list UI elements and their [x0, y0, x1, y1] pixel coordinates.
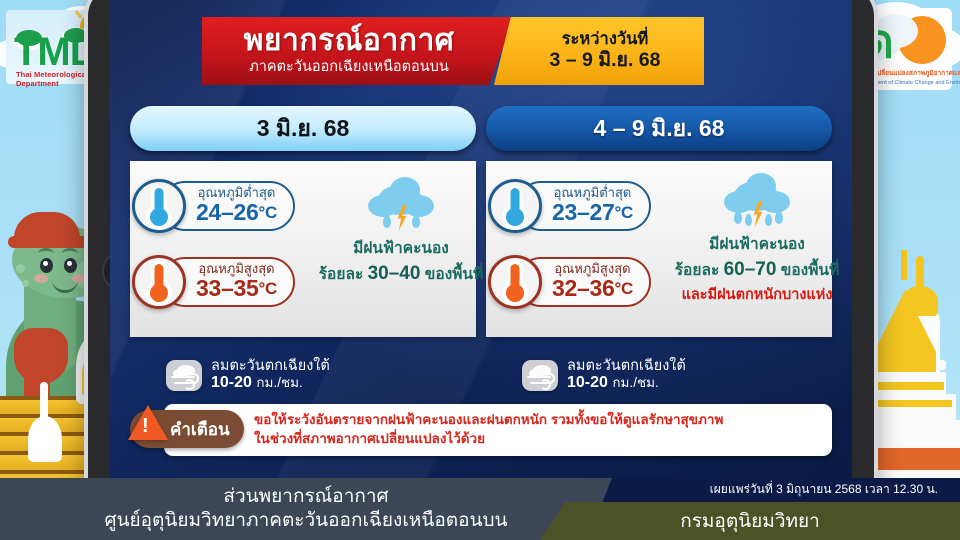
- min-temp-number: 23–27: [552, 199, 614, 225]
- raindrop-icon: [734, 211, 742, 224]
- footer-line-1: ส่วนพยากรณ์อากาศ: [223, 486, 388, 509]
- tablet-screen: พยากรณ์อากาศ ภาคตะวันออกเฉียงเหนือตอนบน …: [110, 0, 852, 508]
- rain-line-1: มีฝนฟ้าคะนอง: [353, 235, 449, 260]
- wind-direction: ลมตะวันตกเฉียงใต้: [567, 358, 686, 374]
- min-temp-unit: °C: [614, 203, 632, 222]
- rain-pct-prefix: ร้อยละ: [319, 266, 368, 283]
- thermometer-min-icon: [132, 179, 186, 233]
- tablet-frame: พยากรณ์อากาศ ภาคตะวันออกเฉียงเหนือตอนบน …: [88, 0, 874, 540]
- raindrop-icon: [745, 214, 752, 226]
- wind-cell-1: ลมตะวันตกเฉียงใต้ 10-20 กม./ชม.: [130, 352, 476, 398]
- forecast-panel-1: อุณหภูมิต่ำสุด 24–26°C: [130, 161, 476, 337]
- warning-label: คำเตือน: [170, 416, 230, 443]
- rain-block-1: มีฝนฟ้าคะนอง ร้อยละ 30–40 ของพื้นที่: [312, 175, 490, 287]
- footer: ส่วนพยากรณ์อากาศ ศูนย์อุตุนิยมวิทยาภาคตะ…: [0, 478, 960, 540]
- wind-text-2: ลมตะวันตกเฉียงใต้ 10-20 กม./ชม.: [567, 358, 686, 392]
- weather-infographic: TMD Thai Meteorological Department ด กรม…: [0, 0, 960, 540]
- max-temp-number: 33–35: [196, 275, 258, 301]
- max-temp-unit: °C: [614, 279, 632, 298]
- min-temp-label: อุณหภูมิต่ำสุด: [198, 186, 276, 200]
- max-temp-label: อุณหภูมิสูงสุด: [554, 262, 630, 276]
- warning-line-2: ในช่วงที่สภาพอากาศเปลี่ยนแปลงไว้ด้วย: [254, 430, 723, 449]
- rain-line-3: และมีฝนตกหนักบางแห่ง: [682, 283, 833, 306]
- rain-block-2: มีฝนฟ้าคะนอง ร้อยละ 60–70 ของพื้นที่ และ…: [664, 171, 850, 306]
- banner-range-value: 3 – 9 มิ.ย. 68: [549, 49, 660, 72]
- thunderstorm-icon: [720, 171, 794, 229]
- raindrop-icon: [412, 215, 420, 228]
- wind-speed: 10-20 กม./ชม.: [211, 374, 330, 392]
- banner-title-block: พยากรณ์อากาศ ภาคตะวันออกเฉียงเหนือตอนบน: [202, 17, 514, 85]
- max-temp-number: 32–36: [552, 275, 614, 301]
- wind-speed-value: 10-20: [211, 374, 252, 391]
- min-temp-label: อุณหภูมิต่ำสุด: [554, 186, 632, 200]
- wind-speed-unit: กม./ชม.: [256, 375, 302, 390]
- day-pill-1: 3 มิ.ย. 68: [130, 106, 476, 151]
- max-temp-value: 32–36°C: [552, 276, 633, 300]
- max-temp-value: 33–35°C: [196, 276, 277, 300]
- wind-text-1: ลมตะวันตกเฉียงใต้ 10-20 กม./ชม.: [211, 358, 330, 392]
- rain-pct-suffix: ของพื้นที่: [420, 266, 483, 283]
- wind-icon: [522, 360, 558, 391]
- min-temp-number: 24–26: [196, 199, 258, 225]
- max-temp-unit: °C: [258, 279, 276, 298]
- footer-line-2: ศูนย์อุตุนิยมวิทยาภาคตะวันออกเฉียงเหนือต…: [104, 509, 507, 533]
- forecast-panel-2: อุณหภูมิต่ำสุด 23–27°C: [486, 161, 832, 337]
- raindrop-icon: [383, 215, 391, 228]
- max-temp-row: อุณหภูมิสูงสุด 32–36°C: [488, 255, 651, 309]
- rain-pct-value: 60–70: [724, 259, 777, 280]
- banner-subtitle: ภาคตะวันออกเฉียงเหนือตอนบน: [249, 59, 449, 76]
- raindrop-icon: [765, 214, 772, 226]
- wind-speed-unit: กม./ชม.: [612, 375, 658, 390]
- wind-strip: ลมตะวันตกเฉียงใต้ 10-20 กม./ชม. ลมตะ: [110, 352, 852, 398]
- wind-speed-value: 10-20: [567, 374, 608, 391]
- rain-line-2: ร้อยละ 30–40 ของพื้นที่: [319, 261, 484, 286]
- thermometer-max-icon: [132, 255, 186, 309]
- min-temp-row: อุณหภูมิต่ำสุด 23–27°C: [488, 179, 651, 233]
- footer-left-block: ส่วนพยากรณ์อากาศ ศูนย์อุตุนิยมวิทยาภาคตะ…: [0, 478, 612, 540]
- forecast-column: 3 มิ.ย. 68 อุณหภูมิต่ำสุด 24: [130, 106, 476, 337]
- raindrop-icon: [775, 211, 783, 224]
- warning-exclamation-icon: !: [142, 416, 149, 436]
- forecast-column: 4 – 9 มิ.ย. 68 อุณหภูมิต่ำสุด: [486, 106, 832, 337]
- min-temp-value: 24–26°C: [196, 200, 277, 224]
- wind-speed: 10-20 กม./ชม.: [567, 374, 686, 392]
- rain-line-1: มีฝนฟ้าคะนอง: [709, 231, 805, 256]
- thermometer-min-icon: [488, 179, 542, 233]
- tmd-letters: TMD: [14, 32, 98, 72]
- rain-pct-value: 30–40: [368, 263, 421, 284]
- min-temp-row: อุณหภูมิต่ำสุด 24–26°C: [132, 179, 295, 233]
- rain-pct-prefix: ร้อยละ: [675, 262, 724, 279]
- banner-date-block: ระหว่างวันที่ 3 – 9 มิ.ย. 68: [494, 17, 704, 85]
- thermometer-max-icon: [488, 255, 542, 309]
- thunderstorm-icon: [364, 175, 438, 233]
- footer-published: เผยแพร่วันที่ 3 มิถุนายน 2568 เวลา 12.30…: [704, 479, 944, 500]
- banner-title: พยากรณ์อากาศ: [244, 26, 455, 57]
- warning-line-1: ขอให้ระวังอันตรายจากฝนฟ้าคะนองและฝนตกหนั…: [254, 411, 723, 430]
- day-pill-2: 4 – 9 มิ.ย. 68: [486, 106, 832, 151]
- max-temp-label: อุณหภูมิสูงสุด: [198, 262, 274, 276]
- warning-text: ขอให้ระวังอันตรายจากฝนฟ้าคะนองและฝนตกหนั…: [254, 411, 723, 448]
- wind-direction: ลมตะวันตกเฉียงใต้: [211, 358, 330, 374]
- min-temp-value: 23–27°C: [552, 200, 633, 224]
- forecast-banner: พยากรณ์อากาศ ภาคตะวันออกเฉียงเหนือตอนบน …: [202, 17, 704, 85]
- wind-cell-2: ลมตะวันตกเฉียงใต้ 10-20 กม./ชม.: [486, 352, 832, 398]
- footer-right-block: กรมอุตุนิยมวิทยา: [540, 502, 960, 540]
- min-temp-unit: °C: [258, 203, 276, 222]
- wind-icon: [166, 360, 202, 391]
- banner-range-label: ระหว่างวันที่: [562, 30, 649, 49]
- max-temp-row: อุณหภูมิสูงสุด 33–35°C: [132, 255, 295, 309]
- rain-pct-suffix: ของพื้นที่: [776, 262, 839, 279]
- rain-line-2: ร้อยละ 60–70 ของพื้นที่: [675, 257, 840, 282]
- forecast-columns: 3 มิ.ย. 68 อุณหภูมิต่ำสุด 24: [110, 106, 852, 337]
- warning-bar: คำเตือน ! ขอให้ระวังอันตรายจากฝนฟ้าคะนอง…: [130, 404, 832, 456]
